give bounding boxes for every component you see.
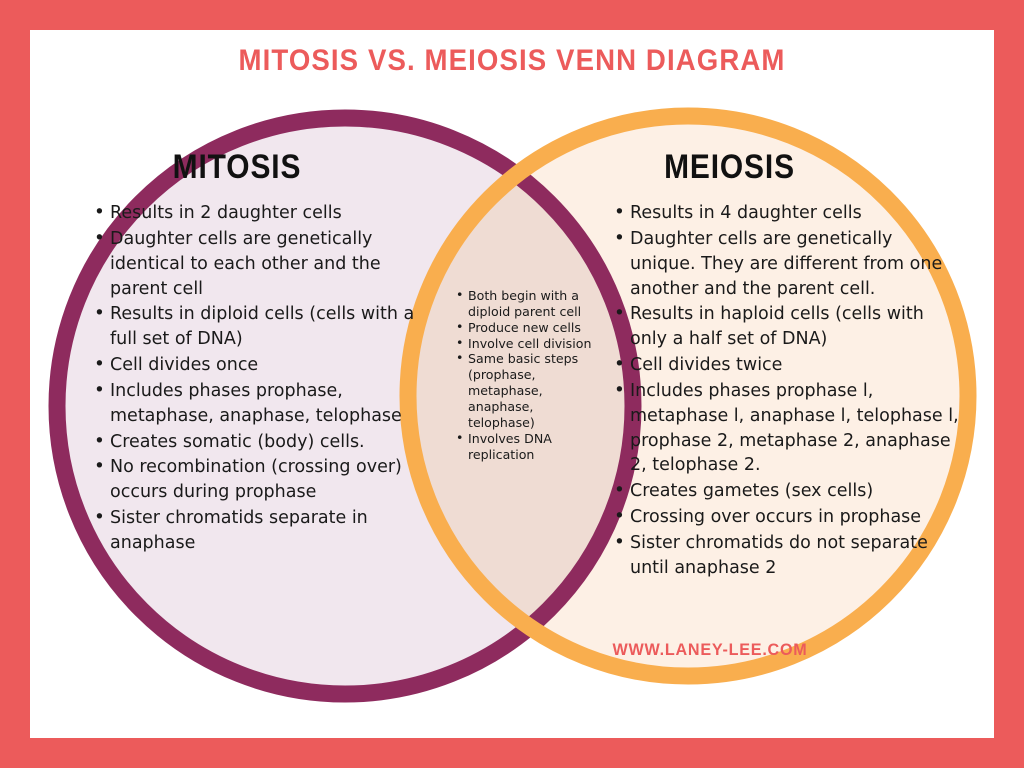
list-item: Cell divides once xyxy=(92,353,422,378)
list-item: Sister chromatids separate in anaphase xyxy=(92,506,422,556)
list-item: Same basic steps (prophase, metaphase, a… xyxy=(455,351,595,430)
list-item: Creates somatic (body) cells. xyxy=(92,430,422,455)
watermark-url: WWW.LANEY-LEE.COM xyxy=(606,640,815,660)
list-item: Includes phases prophase l, metaphase l,… xyxy=(612,379,962,478)
list-item: Produce new cells xyxy=(455,320,595,336)
list-item: Daughter cells are genetically identical… xyxy=(92,227,422,302)
list-item: Daughter cells are genetically unique. T… xyxy=(612,227,962,302)
list-item: Results in 4 daughter cells xyxy=(612,201,962,226)
mitosis-heading: MITOSIS xyxy=(109,148,364,187)
list-item: Includes phases prophase, metaphase, ana… xyxy=(92,379,422,429)
list-item: Crossing over occurs in prophase xyxy=(612,505,962,530)
list-item: Involve cell division xyxy=(455,336,595,352)
list-item: Results in haploid cells (cells with onl… xyxy=(612,302,962,352)
meiosis-panel: MEIOSIS Results in 4 daughter cells Daug… xyxy=(612,148,962,582)
list-item: Results in diploid cells (cells with a f… xyxy=(92,302,422,352)
meiosis-list: Results in 4 daughter cells Daughter cel… xyxy=(612,201,962,581)
list-item: Sister chromatids do not separate until … xyxy=(612,531,962,581)
list-item: Cell divides twice xyxy=(612,353,962,378)
list-item: Involves DNA replication xyxy=(455,431,595,463)
list-item: Creates gametes (sex cells) xyxy=(612,479,962,504)
list-item: No recombination (crossing over) occurs … xyxy=(92,455,422,505)
mitosis-panel: MITOSIS Results in 2 daughter cells Daug… xyxy=(92,148,422,557)
list-item: Both begin with a diploid parent cell xyxy=(455,288,595,320)
shared-traits-panel: Both begin with a diploid parent cell Pr… xyxy=(455,288,595,462)
meiosis-heading: MEIOSIS xyxy=(626,148,833,187)
mitosis-list: Results in 2 daughter cells Daughter cel… xyxy=(92,201,422,556)
list-item: Results in 2 daughter cells xyxy=(92,201,422,226)
shared-traits-list: Both begin with a diploid parent cell Pr… xyxy=(455,288,595,462)
venn-diagram-poster: MITOSIS VS. MEIOSIS VENN DIAGRAM MITOSIS… xyxy=(0,0,1024,768)
